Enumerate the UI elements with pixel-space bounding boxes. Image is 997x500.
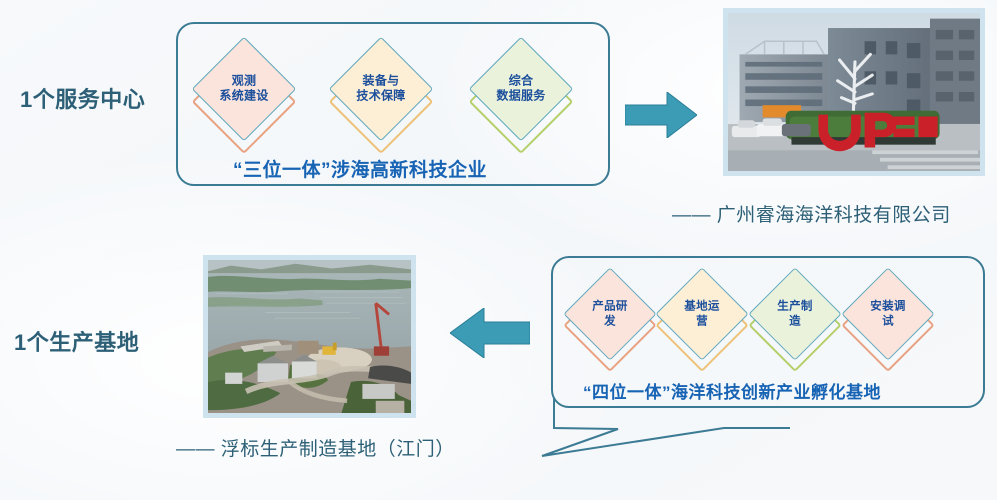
service-panel-caption: “三位一体”涉海高新科技企业: [233, 155, 487, 182]
diamond-label: 生产制 造: [762, 299, 828, 328]
diamond-label: 观测 系统建设: [202, 74, 286, 105]
arrow-left-icon: [450, 308, 530, 358]
diamond-base-operation[interactable]: 基地运 营: [669, 281, 735, 347]
photo-caption-production-base: —— 浮标生产制造基地（江门）: [176, 434, 455, 461]
diamond-manufacturing[interactable]: 生产制 造: [762, 281, 828, 347]
diamond-label: 装备与 技术保障: [339, 74, 423, 105]
diamond-equipment-technical-support[interactable]: 装备与 技术保障: [344, 52, 418, 126]
photo-caption-office: —— 广州睿海海洋科技有限公司: [672, 200, 951, 227]
diamond-installation-commissioning[interactable]: 安装调 试: [855, 281, 921, 347]
diamond-product-rd[interactable]: 产品研 发: [577, 281, 643, 347]
diamond-label: 产品研 发: [577, 299, 643, 328]
photo-production-base: [203, 255, 416, 418]
base-panel-caption: “四位一体”海洋科技创新产业孵化基地: [583, 378, 881, 403]
photo-office-building: [723, 8, 985, 176]
row-label-production-base: 1个生产基地: [14, 325, 139, 357]
slide-canvas: 1个服务中心 观测 系统建设 装备与 技术保障 综合 数据服务 “三位一体”涉海…: [0, 0, 997, 500]
arrow-right-icon: [625, 92, 697, 138]
diamond-label: 基地运 营: [669, 299, 735, 328]
diamond-label: 综合 数据服务: [479, 74, 563, 105]
diamond-comprehensive-data-service[interactable]: 综合 数据服务: [484, 52, 558, 126]
diamond-observation-system[interactable]: 观测 系统建设: [207, 52, 281, 126]
row-label-service-center: 1个服务中心: [20, 82, 145, 114]
diamond-label: 安装调 试: [855, 299, 921, 328]
